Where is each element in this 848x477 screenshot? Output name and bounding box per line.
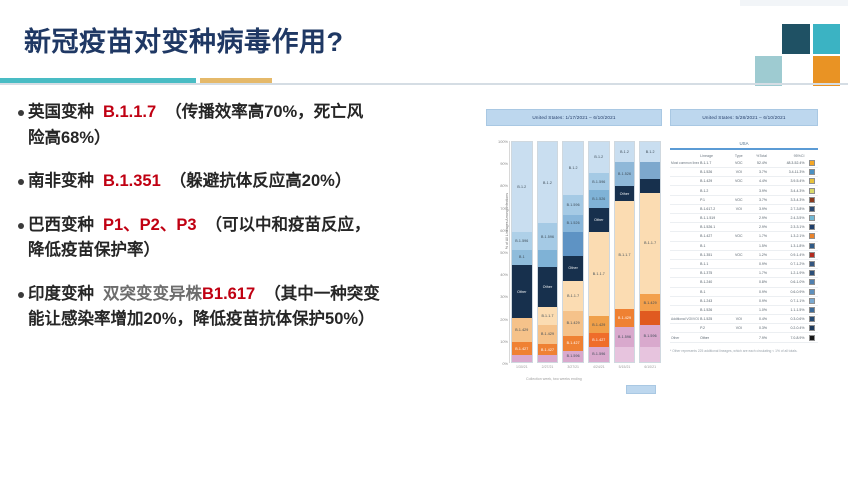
bar-segment	[538, 355, 558, 362]
bar-segment: Other	[512, 265, 532, 318]
table-row: B.1.10.9%0.7-1.2%	[670, 259, 818, 268]
cell-color-swatch	[805, 296, 818, 305]
color-swatch	[809, 270, 815, 276]
cell-ci: 0.2-0.4%	[768, 324, 806, 333]
color-swatch	[809, 279, 815, 285]
bar-segment	[615, 347, 635, 362]
bullet-suffix: （躲避抗体反应高20%）	[170, 172, 352, 190]
table-row: Most common lineagesB.1.1.7VOC52.4%48.3-…	[670, 159, 818, 168]
table-row: OtherOther7.9%7.0-8.9%	[670, 333, 818, 342]
cell-group	[670, 259, 699, 268]
lineage-table: USA Lineage Type %Total 95%CI Most commo…	[670, 141, 818, 354]
bullet-prefix: 印度变种	[28, 285, 94, 303]
color-swatch	[809, 325, 815, 331]
cell-pct: 1.2%	[747, 250, 768, 259]
cell-color-swatch	[805, 204, 818, 213]
cell-type	[730, 278, 747, 287]
table-row: P.1VOC3.7%3.3-4.3%	[670, 195, 818, 204]
cell-lineage: B.1.429	[699, 177, 730, 186]
cell-type	[730, 305, 747, 314]
cell-color-swatch	[805, 186, 818, 195]
cell-lineage: B.1.243	[699, 296, 730, 305]
bar-segment: B.1.2	[512, 142, 532, 232]
y-axis-line	[509, 141, 510, 363]
table-row: B.1.3751.7%1.2-1.9%	[670, 269, 818, 278]
color-swatch	[809, 206, 815, 212]
table-body: Most common lineagesB.1.1.7VOC52.4%48.3-…	[670, 159, 818, 342]
cell-lineage: B.1.240	[699, 278, 730, 287]
bar-segment	[640, 179, 660, 192]
bullet-suffix: （可以中和疫苗反应，	[206, 216, 371, 234]
bar-segment: B.1.526	[563, 215, 583, 233]
color-swatch	[809, 224, 815, 230]
slide-root: 新冠疫苗对变种病毒作用? 英国变种B.1.1.7（传播效率高70%，死亡风 险高…	[0, 0, 848, 477]
cell-pct: 0.9%	[747, 287, 768, 296]
bar-segment: Other	[563, 256, 583, 280]
bar-group: B.1.2B.1.596B.1OtherB.1.429B.1.427B.1.2B…	[511, 141, 661, 363]
cell-type	[730, 214, 747, 223]
bullet-prefix: 南非变种	[28, 172, 94, 190]
bar-segment	[563, 232, 583, 256]
y-tick: 70%	[488, 206, 508, 211]
table-row: B.1.617.2VOI3.9%2.7-3.8%	[670, 204, 818, 213]
legend-chip	[626, 385, 656, 394]
cell-pct: 2.9%	[747, 223, 768, 232]
cell-color-swatch	[805, 168, 818, 177]
cell-pct: 1.0%	[747, 305, 768, 314]
variant-proportions-chart: United States: 1/17/2021 – 6/10/2021 Uni…	[478, 103, 840, 408]
bar-segment: B.1.1.7	[615, 201, 635, 309]
cell-lineage: B.1.1	[699, 259, 730, 268]
cell-pct: 3.7%	[747, 168, 768, 177]
table-row: B.11.5%1.3-1.8%	[670, 241, 818, 250]
title-area: 新冠疫苗对变种病毒作用?	[0, 6, 848, 76]
bar-segment: B.1.596	[640, 325, 660, 347]
bullet-dot-icon	[18, 292, 24, 298]
cell-color-swatch	[805, 287, 818, 296]
cell-pct: 52.4%	[747, 159, 768, 168]
cell-group: Most common lineages	[670, 159, 699, 168]
cell-ci: 3.4-4.3%	[768, 186, 806, 195]
cell-color-swatch	[805, 195, 818, 204]
table-row: B.1.2400.8%0.6-1.0%	[670, 278, 818, 287]
cell-pct: 1.7%	[747, 232, 768, 241]
bullet-dot-icon	[18, 223, 24, 229]
bar-segment: B.1.526	[615, 162, 635, 186]
cell-group	[670, 214, 699, 223]
y-tick: 50%	[488, 250, 508, 255]
table-row: B.10.9%0.6-0.9%	[670, 287, 818, 296]
y-tick: 80%	[488, 183, 508, 188]
cell-color-swatch	[805, 269, 818, 278]
color-swatch	[809, 252, 815, 258]
cell-lineage: B.1.526	[699, 168, 730, 177]
deco-square-teal	[813, 24, 840, 54]
cell-pct: 3.7%	[747, 195, 768, 204]
x-axis-ticks: 1/30/212/27/213/27/214/24/215/15/216/10/…	[511, 365, 661, 369]
page-title: 新冠疫苗对变种病毒作用?	[24, 20, 344, 59]
bar-segment: B.1.427	[538, 344, 558, 355]
list-item: 巴西变种P1、P2、P3（可以中和疫苗反应， 降低疫苗保护率）	[18, 213, 470, 264]
cell-lineage: P.2	[699, 324, 730, 333]
cell-color-swatch	[805, 241, 818, 250]
cell-ci: 3.9-5.4%	[768, 177, 806, 186]
cell-group	[670, 168, 699, 177]
cell-type	[730, 333, 747, 342]
stacked-bar: B.1.2B.1.596OtherB.1.1.7B.1.429B.1.427	[537, 141, 559, 363]
list-item: 英国变种B.1.1.7（传播效率高70%，死亡风 险高68%）	[18, 100, 470, 151]
cell-pct: 2.9%	[747, 214, 768, 223]
bar-segment: B.1.429	[512, 318, 532, 342]
color-swatch	[809, 215, 815, 221]
cell-type: VOI	[730, 315, 747, 324]
variant-label: B1.617	[202, 285, 255, 303]
bar-segment: B.1	[512, 250, 532, 265]
cell-lineage: B.1.617.2	[699, 204, 730, 213]
cell-group: Additional VOI/VOC	[670, 315, 699, 324]
cell-ci: 0.9-1.4%	[768, 250, 806, 259]
cell-type: VOC	[730, 250, 747, 259]
bar-segment: B.1.1.7	[640, 193, 660, 294]
y-tick: 40%	[488, 272, 508, 277]
table-rule	[670, 148, 818, 150]
color-swatch	[809, 160, 815, 166]
bar-segment	[640, 162, 660, 180]
y-tick: 90%	[488, 161, 508, 166]
table-row: B.1.23.9%3.4-4.3%	[670, 186, 818, 195]
chart-panel-header-right: United States: 5/28/2021 – 6/10/2021	[670, 109, 818, 126]
chart-panel-header-left: United States: 1/17/2021 – 6/10/2021	[486, 109, 662, 126]
bullet-dot-icon	[18, 110, 24, 116]
list-item: 印度变种双突变变异株B1.617（其中一种突变 能让感染率增加20%，降低疫苗抗…	[18, 282, 470, 333]
cell-type: VOC	[730, 195, 747, 204]
bullet-suffix: （传播效率高70%，死亡风	[165, 103, 363, 121]
x-tick: 1/30/21	[511, 365, 533, 369]
variant-label: B.1.1.7	[103, 103, 156, 121]
cell-group	[670, 232, 699, 241]
bar-segment: B.1.2	[563, 142, 583, 195]
cell-group: Other	[670, 333, 699, 342]
cell-pct: 4.4%	[747, 177, 768, 186]
cell-ci: 2.3-3.1%	[768, 223, 806, 232]
cell-pct: 7.9%	[747, 333, 768, 342]
cell-lineage: B.1.1.7	[699, 159, 730, 168]
cell-pct: 1.5%	[747, 241, 768, 250]
y-tick: 10%	[488, 339, 508, 344]
cell-color-swatch	[805, 159, 818, 168]
bar-segment: B.1.429	[615, 309, 635, 327]
color-swatch	[809, 243, 815, 249]
cell-pct: 0.9%	[747, 259, 768, 268]
cell-group	[670, 241, 699, 250]
bar-segment: B.1.596	[615, 327, 635, 347]
table-row: B.1.1.5192.9%2.4-3.5%	[670, 214, 818, 223]
deco-square-dark-teal	[782, 24, 810, 54]
cell-color-swatch	[805, 223, 818, 232]
bar-segment: B.1.427	[589, 333, 609, 346]
deco-square-light-teal	[755, 56, 782, 86]
bar-segment	[640, 347, 660, 362]
bar-segment: Other	[615, 186, 635, 201]
table-row: P.2VOI0.3%0.2-0.4%	[670, 324, 818, 333]
cell-ci: 1.1-1.5%	[768, 305, 806, 314]
stacked-bar: B.1.2B.1.526OtherB.1.1.7B.1.429B.1.596	[614, 141, 636, 363]
y-tick: 100%	[488, 139, 508, 144]
cell-ci: 2.7-3.8%	[768, 204, 806, 213]
cell-type: VOC	[730, 159, 747, 168]
x-tick: 4/24/21	[588, 365, 610, 369]
cell-group	[670, 305, 699, 314]
stacked-bar: B.1.2B.1.596B.1.526OtherB.1.1.7B.1.429B.…	[588, 141, 610, 363]
cell-type: VOC	[730, 232, 747, 241]
bar-segment: B.1.429	[563, 311, 583, 335]
cell-type	[730, 186, 747, 195]
bar-segment: B.1.596	[589, 173, 609, 191]
y-tick: 20%	[488, 317, 508, 322]
table: Lineage Type %Total 95%CI Most common li…	[670, 153, 818, 343]
cell-pct: 0.3%	[747, 324, 768, 333]
cell-lineage: B.1	[699, 287, 730, 296]
color-swatch	[809, 188, 815, 194]
cell-ci: 1.3-1.8%	[768, 241, 806, 250]
bar-segment: B.1.1.7	[589, 232, 609, 316]
cell-group	[670, 223, 699, 232]
cell-group	[670, 177, 699, 186]
color-swatch	[809, 289, 815, 295]
stacked-bar: B.1.2B.1.1.7B.1.429B.1.596	[639, 141, 661, 363]
cell-ci: 0.3-0.6%	[768, 315, 806, 324]
bar-segment: B.1.427	[563, 336, 583, 351]
cell-ci: 1.3-2.1%	[768, 232, 806, 241]
cell-pct: 3.9%	[747, 204, 768, 213]
cell-lineage: B.1.526	[699, 305, 730, 314]
bullet-dot-icon	[18, 179, 24, 185]
variant-label: P1、P2、P3	[103, 216, 197, 234]
cell-ci: 48.3-52.4%	[768, 159, 806, 168]
cell-group	[670, 186, 699, 195]
cell-lineage: B.1.351	[699, 250, 730, 259]
table-title: USA	[670, 141, 818, 146]
bullet-suffix: （其中一种突变	[264, 285, 380, 303]
cell-pct: 0.9%	[747, 296, 768, 305]
cell-pct: 3.9%	[747, 186, 768, 195]
bar-segment: B.1.427	[512, 342, 532, 355]
bar-segment: B.1.2	[589, 142, 609, 173]
x-tick: 6/10/21	[639, 365, 661, 369]
cell-type	[730, 287, 747, 296]
bar-segment: Other	[589, 208, 609, 232]
cell-type	[730, 259, 747, 268]
cell-pct: 1.7%	[747, 269, 768, 278]
y-tick: 60%	[488, 228, 508, 233]
cell-color-swatch	[805, 259, 818, 268]
cell-type	[730, 241, 747, 250]
cell-group	[670, 204, 699, 213]
color-swatch	[809, 261, 815, 267]
cell-lineage: B.1.375	[699, 269, 730, 278]
stacked-bar: B.1.2B.1.596B.1OtherB.1.429B.1.427	[511, 141, 533, 363]
bullet-line2: 险高68%）	[18, 126, 470, 152]
color-swatch	[809, 197, 815, 203]
cell-ci: 1.2-1.9%	[768, 269, 806, 278]
bullet-prefix: 巴西变种	[28, 216, 94, 234]
table-row: B.1.351VOC1.2%0.9-1.4%	[670, 250, 818, 259]
cell-ci: 0.7-1.2%	[768, 259, 806, 268]
color-swatch	[809, 298, 815, 304]
cell-type: VOI	[730, 204, 747, 213]
table-footnote: * Other represents 225 additional lineag…	[670, 349, 818, 354]
table-row: B.1.526VOI3.7%3.4-11.3%	[670, 168, 818, 177]
cell-group	[670, 324, 699, 333]
bar-segment: B.1.429	[589, 316, 609, 334]
color-swatch	[809, 169, 815, 175]
stacked-bar: B.1.2B.1.596B.1.526OtherB.1.1.7B.1.429B.…	[562, 141, 584, 363]
cell-color-swatch	[805, 232, 818, 241]
cell-ci: 2.4-3.5%	[768, 214, 806, 223]
list-item: 南非变种B.1.351（躲避抗体反应高20%）	[18, 169, 470, 195]
bar-segment: B.1.596	[563, 195, 583, 215]
table-row: B.1.2430.9%0.7-1.1%	[670, 296, 818, 305]
cell-color-swatch	[805, 315, 818, 324]
color-swatch	[809, 307, 815, 313]
cell-type: VOI	[730, 168, 747, 177]
cell-color-swatch	[805, 305, 818, 314]
color-swatch	[809, 178, 815, 184]
cell-pct: 0.4%	[747, 315, 768, 324]
bar-segment: B.1.596	[563, 351, 583, 362]
cell-group	[670, 195, 699, 204]
cell-group	[670, 287, 699, 296]
x-axis-caption: Collection week, two weeks ending	[526, 377, 582, 381]
cell-group	[670, 296, 699, 305]
bullet-line2: 降低疫苗保护率）	[18, 238, 470, 264]
cell-type: VOC	[730, 177, 747, 186]
x-tick: 2/27/21	[537, 365, 559, 369]
table-row: Additional VOI/VOCB.1.525VOI0.4%0.3-0.6%	[670, 315, 818, 324]
bar-segment: B.1.596	[538, 223, 558, 249]
bar-segment: B.1.526	[589, 190, 609, 208]
bar-segment: B.1.596	[589, 347, 609, 362]
y-tick: 30%	[488, 294, 508, 299]
bar-segment: B.1.2	[538, 142, 558, 223]
cell-ci: 7.0-8.9%	[768, 333, 806, 342]
bar-segment: B.1.429	[538, 325, 558, 345]
cell-color-swatch	[805, 324, 818, 333]
cell-ci: 0.7-1.1%	[768, 296, 806, 305]
x-tick: 3/27/21	[562, 365, 584, 369]
cell-lineage: B.1.526.1	[699, 223, 730, 232]
bullet-prefix: 英国变种	[28, 103, 94, 121]
cell-color-swatch	[805, 278, 818, 287]
bar-segment: B.1.1.7	[563, 281, 583, 312]
bar-segment: B.1.2	[640, 142, 660, 162]
cell-ci: 0.6-0.9%	[768, 287, 806, 296]
cell-type	[730, 296, 747, 305]
cell-type	[730, 269, 747, 278]
bullet-grey-text: 双突变变异株	[103, 285, 202, 303]
cell-type: VOI	[730, 324, 747, 333]
cell-lineage: B.1.2	[699, 186, 730, 195]
cell-group	[670, 269, 699, 278]
color-swatch	[809, 335, 815, 341]
bullet-line2: 能让感染率增加20%，降低疫苗抗体保护50%）	[18, 307, 470, 333]
x-tick: 5/15/21	[614, 365, 636, 369]
color-swatch	[809, 316, 815, 322]
cell-type	[730, 223, 747, 232]
color-swatch	[809, 233, 815, 239]
cell-group	[670, 278, 699, 287]
cell-lineage: Other	[699, 333, 730, 342]
stacked-bar-plot: % of All Lineages Among Infections 100%9…	[486, 141, 662, 381]
y-tick: 0%	[488, 361, 508, 366]
cell-lineage: B.1.525	[699, 315, 730, 324]
table-row: B.1.427VOC1.7%1.3-2.1%	[670, 232, 818, 241]
bar-segment: B.1.429	[640, 294, 660, 312]
bar-segment	[640, 311, 660, 324]
cell-pct: 0.8%	[747, 278, 768, 287]
cell-lineage: P.1	[699, 195, 730, 204]
cell-color-swatch	[805, 214, 818, 223]
bar-segment	[512, 355, 532, 362]
cell-lineage: B.1.427	[699, 232, 730, 241]
bar-segment: B.1.2	[615, 142, 635, 162]
table-row: B.1.5261.0%1.1-1.5%	[670, 305, 818, 314]
bar-segment: B.1.1.7	[538, 307, 558, 325]
cell-ci: 3.3-4.3%	[768, 195, 806, 204]
cell-lineage: B.1.1.519	[699, 214, 730, 223]
cell-lineage: B.1	[699, 241, 730, 250]
cell-color-swatch	[805, 333, 818, 342]
cell-color-swatch	[805, 250, 818, 259]
table-row: B.1.429VOC4.4%3.9-5.4%	[670, 177, 818, 186]
bar-segment	[538, 250, 558, 268]
table-row: B.1.526.12.9%2.3-3.1%	[670, 223, 818, 232]
divider-grey	[0, 83, 848, 85]
cell-color-swatch	[805, 177, 818, 186]
cell-ci: 3.4-11.3%	[768, 168, 806, 177]
variant-label: B.1.351	[103, 172, 161, 190]
bar-segment: Other	[538, 267, 558, 307]
bar-segment: B.1.596	[512, 232, 532, 250]
cell-group	[670, 250, 699, 259]
cell-ci: 0.6-1.0%	[768, 278, 806, 287]
deco-square-orange	[813, 56, 840, 86]
bullet-list: 英国变种B.1.1.7（传播效率高70%，死亡风 险高68%） 南非变种B.1.…	[18, 100, 470, 351]
